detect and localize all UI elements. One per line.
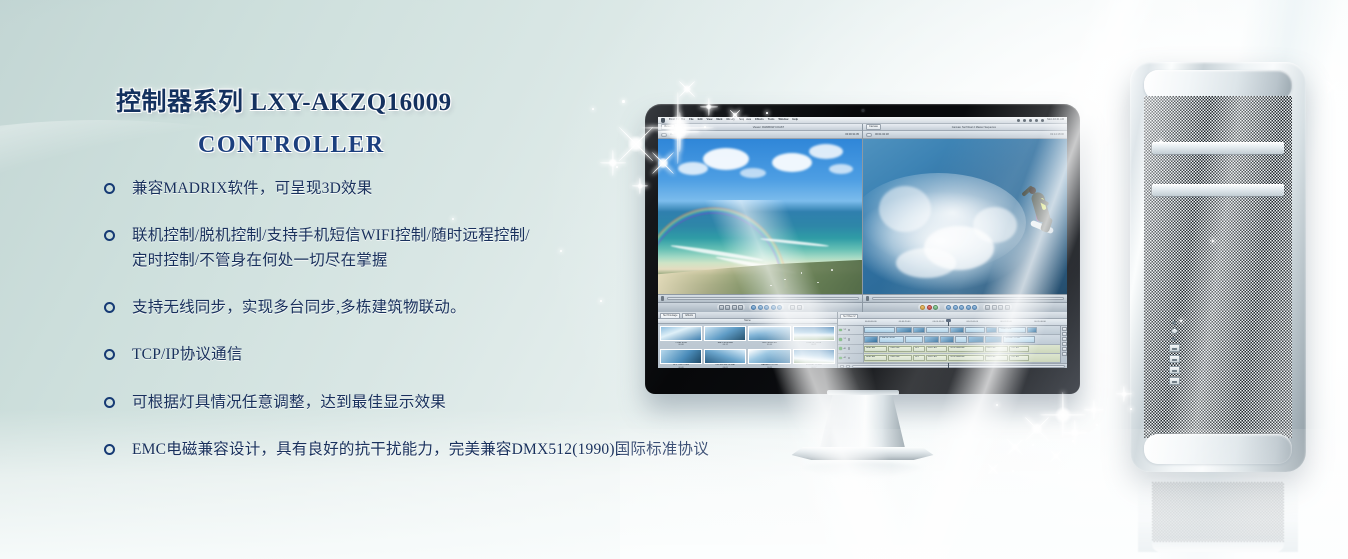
track-enable-icon[interactable] xyxy=(839,357,842,360)
track-lock-icon[interactable] xyxy=(848,338,851,341)
track-header[interactable]: V2 xyxy=(838,326,863,335)
viewer-transport-controls[interactable] xyxy=(658,302,862,312)
track-lock-icon[interactable] xyxy=(848,357,851,360)
viewer-toolbar[interactable]: 00:00:14:22 00:00:31:05 xyxy=(658,131,862,139)
canvas-scrub-bar[interactable] xyxy=(872,297,1064,300)
clip-label: SFX xyxy=(914,356,920,359)
tab-viewer[interactable]: Viewer xyxy=(661,124,675,129)
timeline-ruler[interactable]: 00:00:00:00 00:00:20:00 00:00:40:00 00:0… xyxy=(838,319,1067,326)
track-lock-icon[interactable] xyxy=(848,329,851,332)
clip-duration: 00:08 xyxy=(679,344,684,347)
track-enable-icon[interactable] xyxy=(839,329,842,332)
menu-item-file[interactable]: File xyxy=(689,119,693,122)
table-row[interactable]: LINE-UP WIDE SUNSET POINT xyxy=(864,335,1060,344)
timeline-tabs[interactable]: Surf Reel 2 xyxy=(838,312,1067,319)
bullet-circle-icon xyxy=(104,183,115,194)
surfer-riding-wave-image xyxy=(863,139,1067,294)
tower-reflection xyxy=(1138,474,1298,552)
viewer-timecode-right[interactable]: 00:00:31:05 xyxy=(845,133,859,136)
lower-panes: Surf Footage Effects Name TUBE RIDE 00:0… xyxy=(658,312,1067,368)
aerial-coastline-with-rainbow-image xyxy=(658,139,862,294)
surfer-figure xyxy=(1017,182,1051,234)
list-item[interactable]: OFFSHORE SPRAY 00:05 xyxy=(704,349,746,368)
display-screen: Final Cut Pro File Edit View Mark Modify… xyxy=(658,117,1067,368)
browser-pane[interactable]: Surf Footage Effects Name TUBE RIDE 00:0… xyxy=(658,312,838,368)
firewire-port-icon[interactable] xyxy=(1169,366,1180,374)
canvas-transport-group[interactable] xyxy=(944,304,979,311)
timeline-tool-rail[interactable] xyxy=(1060,326,1067,363)
track-lock-icon[interactable] xyxy=(848,347,851,350)
selection-tool-icon[interactable] xyxy=(1062,327,1067,331)
timeline-body[interactable]: V2 V1 A1 xyxy=(838,326,1067,363)
bullet-circle-icon xyxy=(104,302,115,313)
canvas-tool-group[interactable] xyxy=(983,304,1012,311)
bullet-circle-icon xyxy=(104,444,115,455)
viewer-pane[interactable]: Viewer Viewer: RAINBOW COAST 00:00:14:22… xyxy=(658,124,862,312)
list-item[interactable]: WHITEWATER 00:06 xyxy=(748,326,790,347)
clip-label: REEL.AIF xyxy=(865,356,876,359)
list-item[interactable]: BOTTOM TURN 00:09 xyxy=(660,349,702,368)
track-label: A1 xyxy=(843,348,846,350)
usb-port-icon[interactable] xyxy=(1169,377,1180,385)
viewer-titlebar[interactable]: Viewer Viewer: RAINBOW COAST xyxy=(658,124,862,131)
bullet-circle-icon xyxy=(104,230,115,241)
menu-item-help[interactable]: Help xyxy=(792,119,798,122)
menu-app-name[interactable]: Final Cut Pro xyxy=(669,119,685,122)
mac-pro-tower xyxy=(1130,62,1306,472)
viewer-timecode-left[interactable]: 00:00:14:22 xyxy=(670,133,684,136)
feature-text: 可根据灯具情况任意调整，达到最佳显示效果 xyxy=(132,390,446,415)
canvas-transport-controls[interactable] xyxy=(863,302,1067,312)
viewer-scrub-bar[interactable] xyxy=(667,297,859,300)
browser-thumbnail-grid[interactable]: TUBE RIDE 00:08 BACKSIDE AIR 00:12 WHITE… xyxy=(658,324,837,368)
track-header[interactable]: V1 xyxy=(838,335,863,344)
ruler-tick: 00:01:00:00 xyxy=(965,321,999,323)
ruler-tick: 00:00:00:00 xyxy=(864,321,898,323)
clip-label: REEL.AIF xyxy=(986,356,997,359)
canvas-title: Canvas: Surf Reel 2 Master Sequence xyxy=(952,126,996,129)
tab-effects[interactable]: Effects xyxy=(682,313,696,317)
bullet-circle-icon xyxy=(104,349,115,360)
tab-sequence[interactable]: Surf Reel 2 xyxy=(840,314,859,318)
feature-text: TCP/IP协议通信 xyxy=(132,342,243,367)
track-label: V1 xyxy=(843,338,846,340)
track-header[interactable]: A1 xyxy=(838,345,863,354)
time-machine-icon[interactable] xyxy=(1023,119,1026,122)
track-header[interactable]: A2 xyxy=(838,354,863,363)
tower-handle-bottom xyxy=(1144,434,1292,464)
display-stand xyxy=(645,392,1080,472)
stand-base xyxy=(792,447,934,460)
bullet-circle-icon xyxy=(104,397,115,408)
menu-item-tools[interactable]: Tools xyxy=(768,119,775,122)
table-row[interactable]: TUBE RIDE xyxy=(864,326,1060,335)
usb-port-icon[interactable] xyxy=(1169,344,1180,352)
product-subtitle: CONTROLLER xyxy=(0,132,620,159)
menu-item-sequence[interactable]: Sequence xyxy=(739,119,751,122)
viewer-tool-button[interactable] xyxy=(661,133,667,137)
clip-duration: 00:17 xyxy=(811,367,816,368)
battery-icon[interactable] xyxy=(1041,119,1044,122)
feature-text: 联机控制/脱机控制/支持手机短信WIFI控制/随时远程控制/ 定时控制/不管身在… xyxy=(132,223,530,273)
edit-tool-icon[interactable] xyxy=(1062,332,1067,336)
clip-label: SURF AMB.AIF xyxy=(949,356,965,359)
canvas-image[interactable] xyxy=(863,139,1067,294)
menu-item-mark[interactable]: Mark xyxy=(716,119,722,122)
ruler-tick: 00:00:20:00 xyxy=(898,321,932,323)
stand-neck-top xyxy=(827,390,899,395)
ruler-tick: 00:01:20:00 xyxy=(999,321,1033,323)
list-item[interactable]: SUNSET POINT 00:17 xyxy=(793,349,835,368)
feature-text: 支持无线同步，实现多台同步,多栋建筑物联动。 xyxy=(132,295,466,320)
list-item[interactable]: BARREL CLOSE 00:11 xyxy=(748,349,790,368)
canvas-marker-group[interactable] xyxy=(918,304,940,311)
firewire-port-icon[interactable] xyxy=(1172,321,1176,325)
table-row[interactable]: REEL.AIF REEL.AIF SFX REEL xyxy=(864,345,1060,354)
track-enable-icon[interactable] xyxy=(839,338,842,341)
transport-group-center[interactable] xyxy=(749,304,784,311)
marketing-copy: 控制器系列 LXY-AKZQ16009 CONTROLLER 兼容MADRIX软… xyxy=(0,0,660,559)
track-enable-icon[interactable] xyxy=(839,347,842,350)
canvas-pane[interactable]: Canvas Canvas: Surf Reel 2 Master Sequen… xyxy=(862,124,1067,312)
canvas-timecode-right[interactable]: 01:14:18:00 xyxy=(1050,133,1064,136)
track-lanes[interactable]: TUBE RIDE LINE-UP WIDE xyxy=(864,326,1060,363)
camera-icon xyxy=(861,109,864,112)
clip-thumbnail[interactable] xyxy=(793,326,835,341)
tower-body xyxy=(1130,62,1306,472)
ruler-tick: 00:01:40:00 xyxy=(1033,321,1067,323)
timeline-pane[interactable]: Surf Reel 2 00:00:00:00 00:00:20:00 00:0… xyxy=(838,312,1067,368)
optical-drive-slot[interactable] xyxy=(1152,142,1284,154)
viewer-row: Viewer Viewer: RAINBOW COAST 00:00:14:22… xyxy=(658,124,1067,312)
pen-tool-icon[interactable] xyxy=(1062,352,1067,356)
clip-duration: 00:09 xyxy=(679,367,684,368)
clip-label: REEL.AIF xyxy=(927,347,938,350)
horizontal-scroll-thumb[interactable] xyxy=(852,365,1065,368)
viewer-title: Viewer: RAINBOW COAST xyxy=(753,126,784,129)
feature-text: EMC电磁兼容设计，具有良好的抗干扰能力，完美兼容DMX512(1990)国际标… xyxy=(132,437,709,462)
track-label: V2 xyxy=(843,329,846,331)
stand-reflection xyxy=(797,462,929,478)
canvas-tool-button[interactable] xyxy=(866,133,872,137)
clip-thumbnail[interactable] xyxy=(704,349,746,364)
clip-thumbnail[interactable] xyxy=(660,326,702,341)
clip-label: REEL.AIF xyxy=(889,347,900,350)
table-row[interactable]: REEL.AIF REEL.AIF SFX REEL xyxy=(864,354,1060,363)
tower-front-ports[interactable] xyxy=(1166,321,1182,385)
viewer-scrubber[interactable] xyxy=(658,294,862,302)
clip-label: OUT.AIF xyxy=(1010,347,1020,350)
canvas-timecode-left[interactable]: 00:01:02:18 xyxy=(875,133,889,136)
hand-tool-icon[interactable] xyxy=(1062,347,1067,351)
viewer-image[interactable] xyxy=(658,139,862,294)
menu-item-edit[interactable]: Edit xyxy=(698,119,703,122)
product-title: 控制器系列 LXY-AKZQ16009 xyxy=(0,82,620,118)
clip-label: SFX xyxy=(914,347,920,350)
heading-block: 控制器系列 LXY-AKZQ16009 CONTROLLER xyxy=(0,82,620,159)
list-item[interactable]: LINE-UP WIDE 00:21 xyxy=(793,326,835,347)
menu-item-effects[interactable]: Effects xyxy=(755,119,764,122)
menu-item-modify[interactable]: Modify xyxy=(726,119,734,122)
timeline-scrollbar[interactable] xyxy=(838,363,1067,368)
list-item[interactable]: BACKSIDE AIR 00:12 xyxy=(704,326,746,347)
menu-item-view[interactable]: View xyxy=(707,119,713,122)
clip-thumbnail[interactable] xyxy=(748,349,790,364)
clip-duration: 00:12 xyxy=(723,344,728,347)
menu-item-window[interactable]: Window xyxy=(778,119,788,122)
zoom-tool-icon[interactable] xyxy=(1062,342,1067,346)
clip-label: TUBE RIDE xyxy=(999,328,1012,331)
clip-duration: 00:11 xyxy=(767,367,772,368)
clip-thumbnail[interactable] xyxy=(748,326,790,341)
transport-group-left[interactable] xyxy=(717,304,746,311)
clip-duration: 00:06 xyxy=(767,344,772,347)
feature-text: 兼容MADRIX软件，可呈现3D效果 xyxy=(132,176,372,201)
usb-port-icon[interactable] xyxy=(1169,355,1180,363)
clip-thumbnail[interactable] xyxy=(704,326,746,341)
display-bezel: Final Cut Pro File Edit View Mark Modify… xyxy=(645,104,1080,394)
list-item[interactable]: TUBE RIDE 00:08 xyxy=(660,326,702,347)
razor-tool-icon[interactable] xyxy=(1062,337,1067,341)
menu-status-area[interactable]: Mon 10:41 AM xyxy=(1017,119,1064,122)
volume-icon[interactable] xyxy=(1029,119,1032,122)
optical-drive-slot[interactable] xyxy=(1152,184,1284,196)
wifi-icon[interactable] xyxy=(1035,119,1038,122)
clip-thumbnail[interactable] xyxy=(660,349,702,364)
clip-thumbnail[interactable] xyxy=(793,349,835,364)
zoom-out-button[interactable] xyxy=(840,365,844,368)
canvas-titlebar[interactable]: Canvas Canvas: Surf Reel 2 Master Sequen… xyxy=(863,124,1067,131)
clip-label: REEL.AIF xyxy=(986,347,997,350)
canvas-toolbar[interactable]: 00:01:02:18 01:14:18:00 xyxy=(863,131,1067,139)
zoom-in-button[interactable] xyxy=(846,365,850,368)
clip-label: SUNSET POINT xyxy=(1004,337,1021,340)
menu-clock[interactable]: Mon 10:41 AM xyxy=(1047,119,1064,122)
aluminum-display: Final Cut Pro File Edit View Mark Modify… xyxy=(645,104,1080,394)
tab-canvas[interactable]: Canvas xyxy=(866,124,881,129)
clip-label: LINE-UP WIDE xyxy=(880,337,896,340)
clip-label: REEL.AIF xyxy=(927,356,938,359)
sparkle-star xyxy=(676,78,698,100)
tab-surf-footage[interactable]: Surf Footage xyxy=(660,313,680,317)
clip-label: OUT.AIF xyxy=(1010,356,1020,359)
clip-label: SURF AMB.AIF xyxy=(949,347,965,350)
bluetooth-icon[interactable] xyxy=(1017,119,1020,122)
apple-logo-icon[interactable] xyxy=(661,118,665,123)
product-banner: 控制器系列 LXY-AKZQ16009 CONTROLLER 兼容MADRIX软… xyxy=(0,0,1348,559)
transport-group-right[interactable] xyxy=(788,304,804,311)
sparkle-star xyxy=(1324,78,1342,96)
clip-duration: 00:21 xyxy=(811,344,816,347)
canvas-scrubber[interactable] xyxy=(863,294,1067,302)
tower-mesh-grille xyxy=(1144,96,1292,438)
track-label: A2 xyxy=(843,357,846,359)
stand-neck xyxy=(820,392,906,450)
clip-label: REEL.AIF xyxy=(865,347,876,350)
macos-menu-bar[interactable]: Final Cut Pro File Edit View Mark Modify… xyxy=(658,117,1067,124)
track-headers[interactable]: V2 V1 A1 xyxy=(838,326,864,363)
headphone-port-icon[interactable] xyxy=(1171,328,1178,334)
clip-duration: 00:05 xyxy=(723,367,728,368)
power-button-icon[interactable] xyxy=(1172,337,1176,341)
clip-label: REEL.AIF xyxy=(889,356,900,359)
